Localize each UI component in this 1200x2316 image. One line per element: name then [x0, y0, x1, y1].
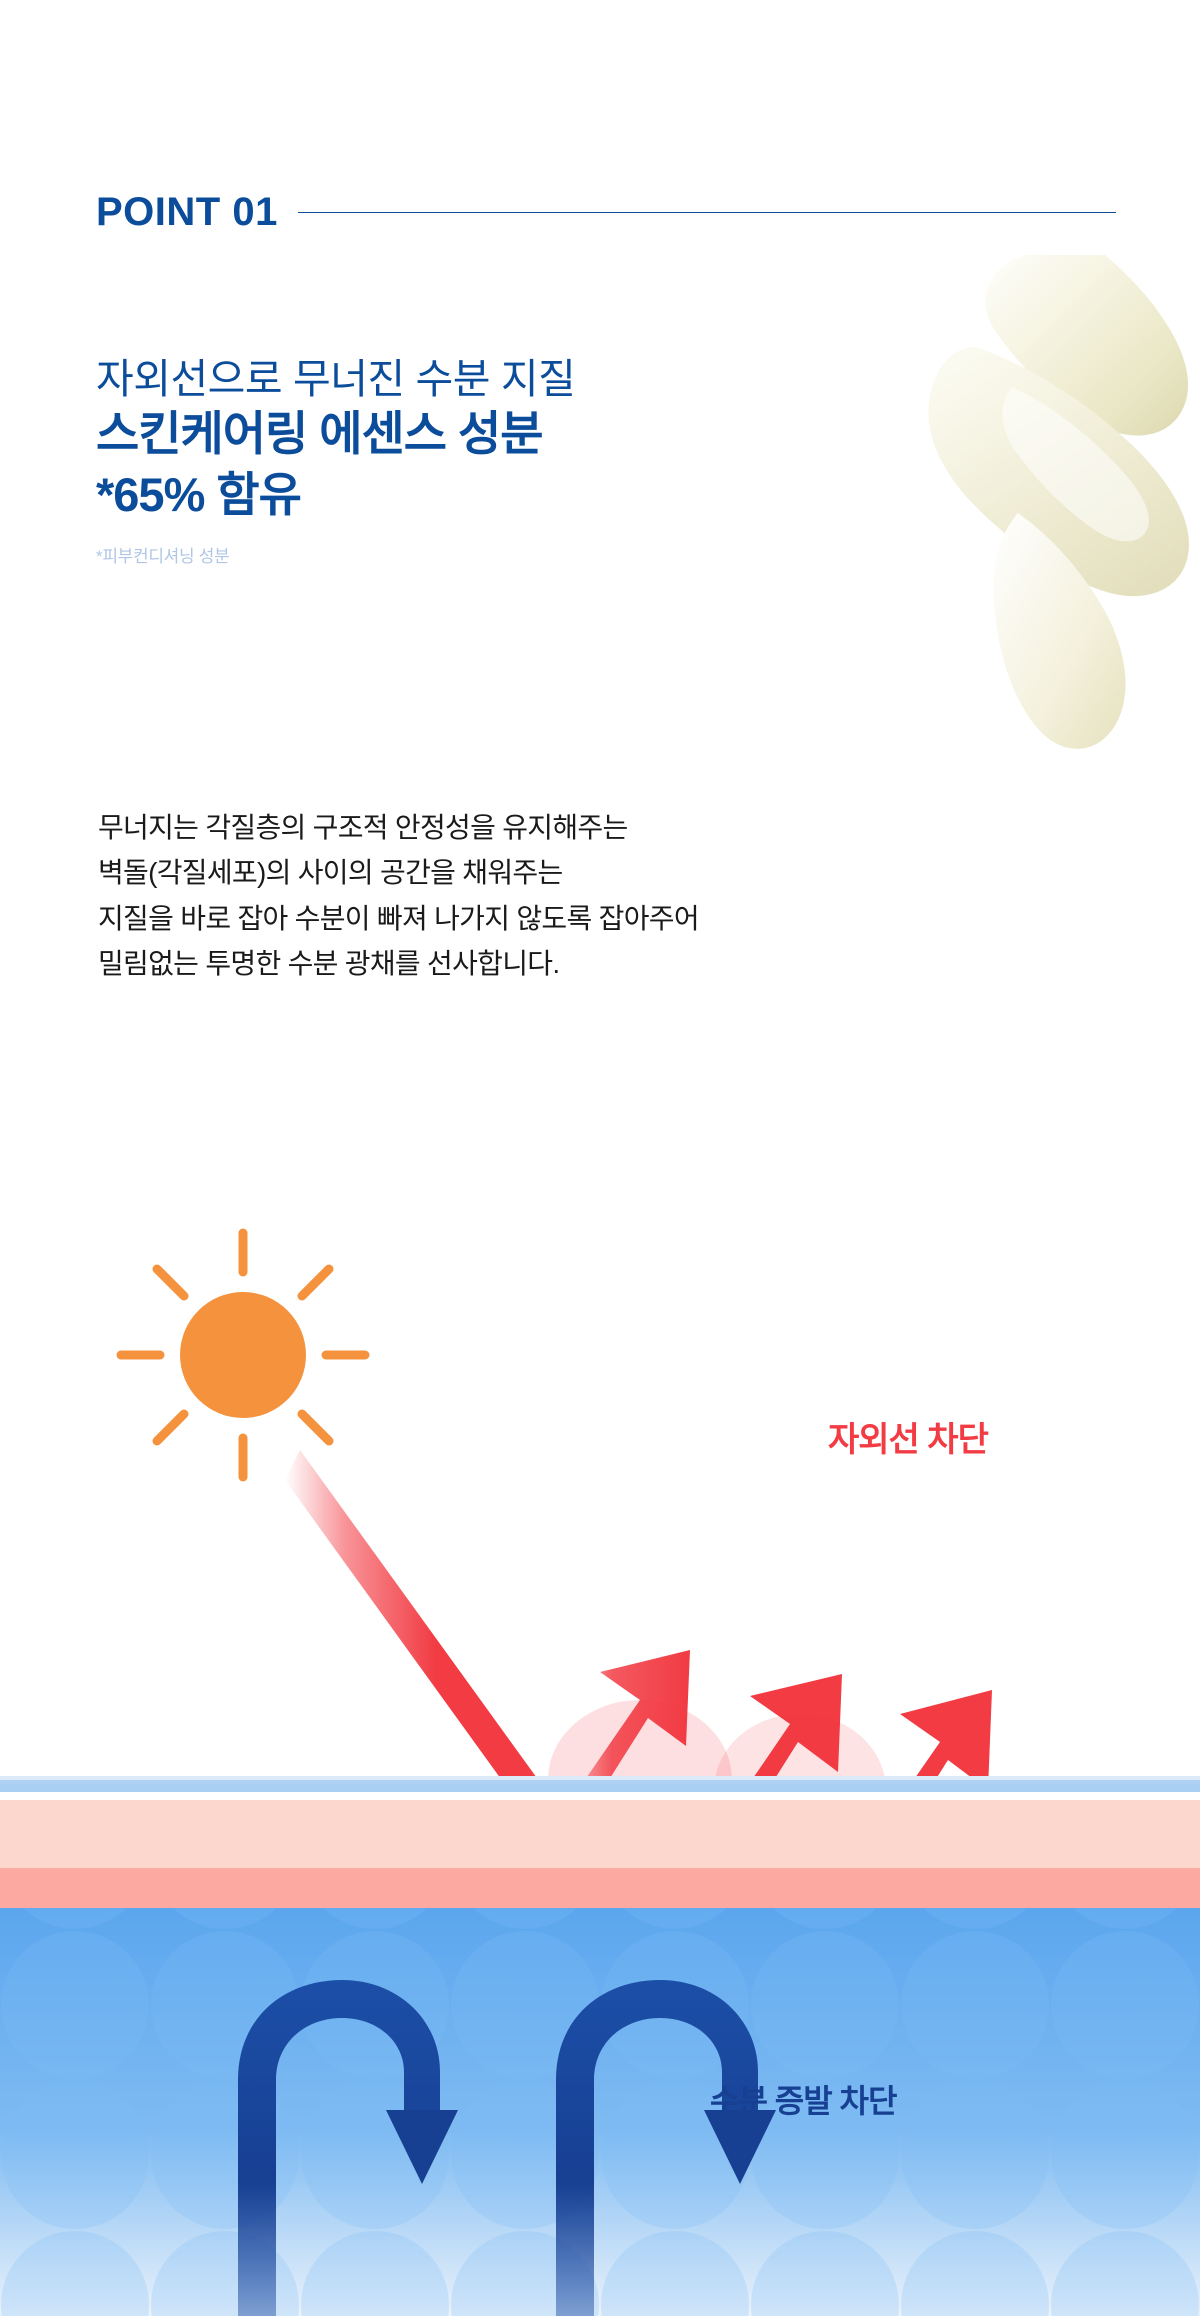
headline-main-line-2: *65% 함유 [96, 464, 816, 525]
uv-block-label: 자외선 차단 [828, 1412, 988, 1461]
uv-moisture-illustration [0, 1180, 1200, 2316]
body-paragraph: 무너지는 각질층의 구조적 안정성을 유지해주는 벽돌(각질세포)의 사이의 공… [98, 805, 1098, 986]
body-line-2: 벽돌(각질세포)의 사이의 공간을 채워주는 [98, 850, 1098, 895]
sun-icon [121, 1233, 365, 1477]
cream-swatch-icon [780, 255, 1200, 795]
body-line-3: 지질을 바로 잡아 수분이 빠져 나가지 않도록 잡아주어 [98, 896, 1098, 941]
point-label: POINT 01 [96, 190, 278, 235]
point-header: POINT 01 [96, 190, 1116, 235]
headline-subline: 자외선으로 무너진 수분 지질 [96, 355, 816, 403]
body-line-1: 무너지는 각질층의 구조적 안정성을 유지해주는 [98, 805, 1098, 850]
point-divider-rule [298, 212, 1116, 213]
headline-footnote: *피부컨디셔닝 성분 [96, 542, 816, 567]
headline-main-line-1: 스킨케어링 에센스 성분 [96, 403, 816, 464]
body-line-4: 밀림없는 투명한 수분 광채를 선사합니다. [98, 941, 1098, 986]
headline-block: 자외선으로 무너진 수분 지질 스킨케어링 에센스 성분 *65% 함유 *피부… [96, 355, 816, 567]
moisture-block-label: 수분 증발 차단 [710, 2076, 896, 2122]
